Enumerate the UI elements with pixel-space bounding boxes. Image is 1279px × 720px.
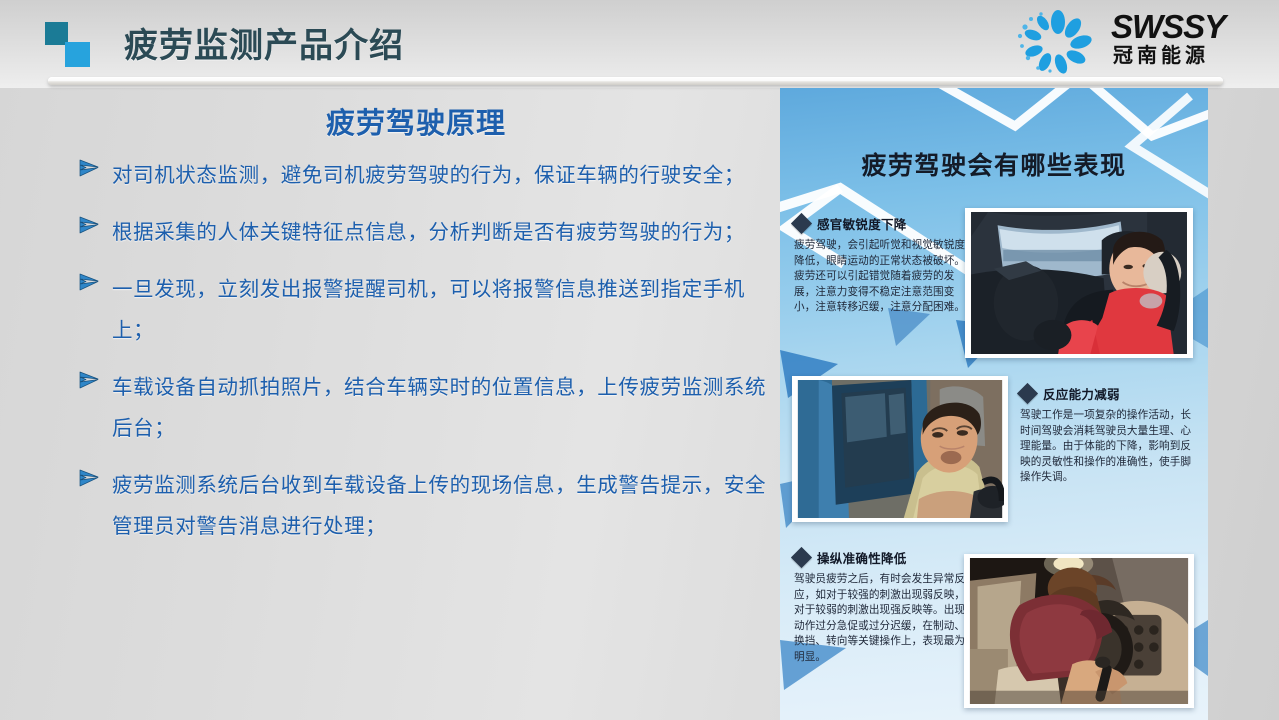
photo-artwork [969,212,1189,354]
photo-artwork [796,380,1004,518]
list-item-label: 车载设备自动抓拍照片，结合车辆实时的位置信息，上传疲劳监测系统后台； [112,367,768,449]
photo-woman-driver-tired [965,208,1193,358]
list-item-label: 疲劳监测系统后台收到车载设备上传的现场信息，生成警告提示，安全管理员对警告消息进… [112,465,768,547]
info-block-body: 驾驶员疲劳之后，有时会发生异常反应，如对于较强的刺激出现弱反映，对于较弱的刺激出… [794,572,972,666]
header-decoration-squares [45,22,93,68]
info-block-control: 操纵准确性降低 驾驶员疲劳之后，有时会发生异常反应，如对于较强的刺激出现弱反映，… [794,548,972,666]
list-item: 一旦发现，立刻发出报警提醒司机，可以将报警信息推送到指定手机上； [78,269,768,351]
logo-wordmark: SWSSY [1111,10,1225,43]
info-block-sensory: 感官敏锐度下降 疲劳驾驶，会引起听觉和视觉敏锐度降低，眼睛运动的正常状态被破坏。… [794,214,972,316]
info-block-reaction: 反应能力减弱 驾驶工作是一项复杂的操作活动，长时间驾驶会消耗驾驶员大量生理、心理… [1020,384,1198,486]
info-block-title: 操纵准确性降低 [817,548,907,567]
photo-artwork [968,558,1190,704]
list-item: 车载设备自动抓拍照片，结合车辆实时的位置信息，上传疲劳监测系统后台； [78,367,768,449]
info-block-title: 感官敏锐度下降 [817,214,907,233]
diamond-icon [791,547,812,568]
info-block-title: 反应能力减弱 [1043,384,1120,403]
photo-truck-driver-yawning [792,376,1008,522]
bullet-list: 对司机状态监测，避免司机疲劳驾驶的行为，保证车辆的行驶安全； 根据采集的人体关键… [78,155,768,563]
arrow-bullet-icon [78,367,112,449]
photo-man-slumped-wheel [964,554,1194,708]
header-divider [48,77,1223,85]
list-item: 疲劳监测系统后台收到车载设备上传的现场信息，生成警告提示，安全管理员对警告消息进… [78,465,768,547]
arrow-bullet-icon [78,465,112,547]
brand-logo: SWSSY 冠南能源 [1011,8,1261,76]
infographic-title: 疲劳驾驶会有哪些表现 [780,146,1208,182]
list-item-label: 根据采集的人体关键特征点信息，分析判断是否有疲劳驾驶的行为； [112,212,768,253]
arrow-bullet-icon [78,269,112,351]
list-item: 对司机状态监测，避免司机疲劳驾驶的行为，保证车辆的行驶安全； [78,155,768,196]
infographic-panel: 疲劳驾驶会有哪些表现 感官敏锐度下降 疲劳驾驶，会引起听觉和视觉敏锐度降低，眼睛… [780,88,1208,720]
list-item-label: 对司机状态监测，避免司机疲劳驾驶的行为，保证车辆的行驶安全； [112,155,768,196]
diamond-icon [1017,383,1038,404]
info-block-body: 驾驶工作是一项复杂的操作活动，长时间驾驶会消耗驾驶员大量生理、心理能量。由于体能… [1020,408,1198,486]
square-light-icon [65,42,90,67]
info-block-body: 疲劳驾驶，会引起听觉和视觉敏锐度降低，眼睛运动的正常状态被破坏。疲劳还可以引起错… [794,238,972,316]
list-item-label: 一旦发现，立刻发出报警提醒司机，可以将报警信息推送到指定手机上； [112,269,768,351]
page-title: 疲劳监测产品介绍 [124,18,404,67]
content-heading: 疲劳驾驶原理 [86,100,746,142]
arrow-bullet-icon [78,212,112,253]
arrow-bullet-icon [78,155,112,196]
logo-subtitle: 冠南能源 [1113,46,1209,66]
diamond-icon [791,213,812,234]
petal-burst-icon [1011,10,1105,74]
slide-header: 疲劳监测产品介绍 SWSSY 冠南能源 [0,0,1279,88]
list-item: 根据采集的人体关键特征点信息，分析判断是否有疲劳驾驶的行为； [78,212,768,253]
